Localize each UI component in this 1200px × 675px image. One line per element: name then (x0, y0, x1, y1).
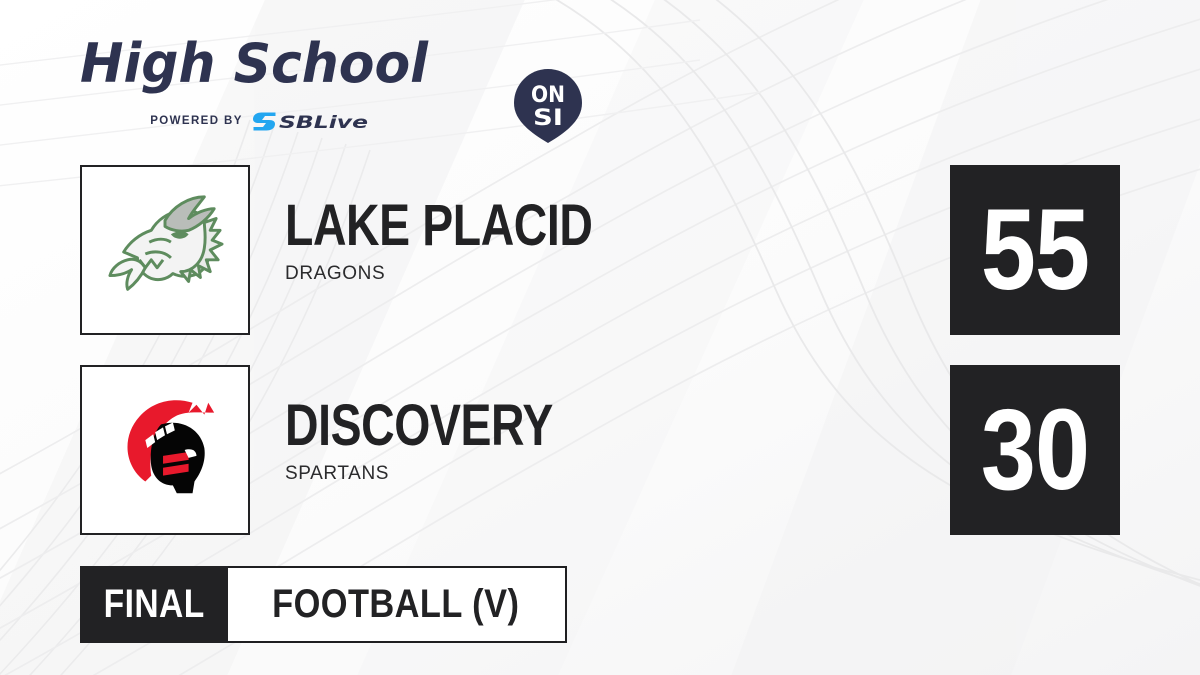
scoreboard-graphic: High School ON SI POWERED BY SBLive (0, 0, 1200, 675)
team-info: DISCOVERY SPARTANS (285, 399, 1005, 485)
sblive-logo: SBLive (252, 111, 370, 132)
team-score-box: 30 (950, 365, 1120, 535)
team-info: LAKE PLACID DRAGONS (285, 199, 1005, 285)
sport-label-box: FOOTBALL (V) (228, 566, 567, 643)
dragon-head-logo-icon (106, 191, 224, 309)
pin-label-si: SI (533, 106, 563, 131)
team-score: 55 (981, 193, 1089, 308)
powered-by-label: POWERED BY (150, 115, 243, 127)
team-logo-frame (80, 165, 250, 335)
sport-label: FOOTBALL (V) (272, 582, 519, 627)
spartan-helmet-logo-icon (106, 391, 224, 509)
high-school-wordmark-text: High School (80, 32, 429, 95)
status-badge-label: FINAL (103, 582, 204, 627)
powered-by-row: POWERED BY SBLive (80, 108, 440, 134)
team-name: DISCOVERY (285, 399, 861, 452)
team-name: LAKE PLACID (285, 199, 861, 252)
team-mascot: SPARTANS (285, 463, 1005, 485)
team-mascot: DRAGONS (285, 263, 1005, 285)
on-si-map-pin-icon: ON SI (512, 67, 584, 145)
game-status-bar: FINAL FOOTBALL (V) (80, 566, 567, 643)
team-logo-frame (80, 365, 250, 535)
pin-label-on: ON (531, 83, 565, 108)
brand-lockup: High School ON SI POWERED BY SBLive (80, 32, 510, 137)
status-badge: FINAL (80, 566, 228, 643)
sblive-wordmark-text: SBLive (279, 113, 368, 132)
team-score: 30 (981, 393, 1089, 508)
high-school-wordmark: High School (80, 32, 430, 96)
team-score-box: 55 (950, 165, 1120, 335)
